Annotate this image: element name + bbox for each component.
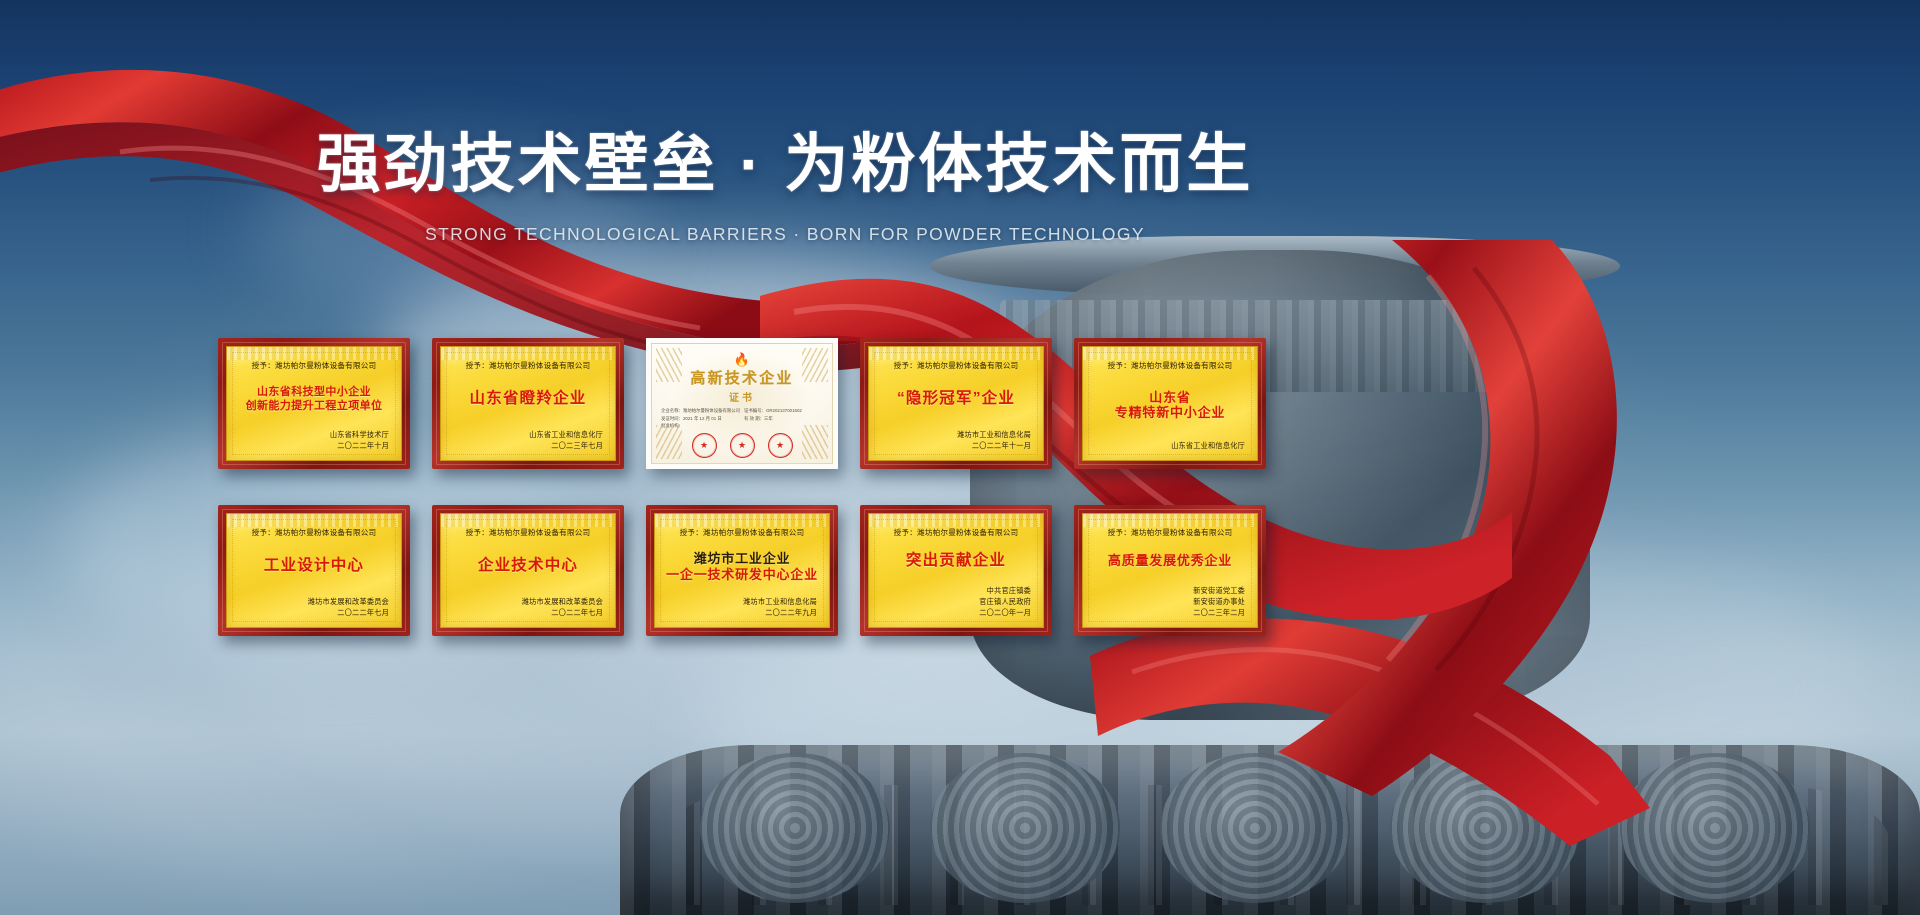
plaque-title-line: 潍坊市工业企业 — [694, 551, 791, 567]
plaque-face: 授予：潍坊帕尔曼粉体设备有限公司 工业设计中心 潍坊市发展和改革委员会 二〇二二… — [226, 513, 402, 628]
award-row-top: 授予：潍坊帕尔曼粉体设备有限公司 山东省科技型中小企业 创新能力提升工程立项单位… — [218, 338, 1266, 469]
plaque-issuer: 潍坊市发展和改革委员会 二〇二二年七月 — [239, 596, 389, 618]
plaque-issuer: 潍坊市工业和信息化局 二〇二二年十一月 — [881, 429, 1031, 451]
plaque-issuer-date: 二〇二〇年一月 — [881, 607, 1031, 618]
plaque-grantee: 授予：潍坊帕尔曼粉体设备有限公司 — [453, 527, 603, 538]
certificate-face: 🔥 高新技术企业 证书 企业名称：潍坊帕尔曼粉体设备有限公司 证书编号：GR20… — [651, 343, 833, 464]
plaque-issuer-line: 潍坊市发展和改革委员会 — [453, 596, 603, 607]
plaque-issuer-line: 潍坊市发展和改革委员会 — [239, 596, 389, 607]
certificate-title: 高新技术企业 — [690, 367, 793, 388]
award-plaque[interactable]: 授予：潍坊帕尔曼粉体设备有限公司 工业设计中心 潍坊市发展和改革委员会 二〇二二… — [218, 505, 410, 636]
plaque-issuer: 潍坊市发展和改革委员会 二〇二二年七月 — [453, 596, 603, 618]
award-plaque[interactable]: 授予：潍坊帕尔曼粉体设备有限公司 突出贡献企业 中共官庄镇委 官庄镇人民政府 二… — [860, 505, 1052, 636]
plaque-grantee: 授予：潍坊帕尔曼粉体设备有限公司 — [881, 527, 1031, 538]
page-title: 强劲技术壁垒 · 为粉体技术而生 — [0, 128, 1570, 202]
plaque-issuer: 新安街道党工委 新安街道办事处 二〇二三年二月 — [1095, 585, 1245, 618]
plaque-issuer-date: 二〇二二年七月 — [239, 607, 389, 618]
plaque-title-line: 山东省科技型中小企业 — [257, 386, 371, 399]
plaque-issuer-line: 中共官庄镇委 — [881, 585, 1031, 596]
bronze-ding-medallion — [1160, 753, 1350, 903]
plaque-face: 授予：潍坊帕尔曼粉体设备有限公司 山东省 专精特新中小企业 山东省工业和信息化厅 — [1082, 346, 1258, 461]
plaque-grantee: 授予：潍坊帕尔曼粉体设备有限公司 — [239, 360, 389, 371]
high-tech-enterprise-certificate[interactable]: 🔥 高新技术企业 证书 企业名称：潍坊帕尔曼粉体设备有限公司 证书编号：GR20… — [646, 338, 838, 469]
plaque-issuer-date: 二〇二二年十一月 — [881, 440, 1031, 451]
plaque-issuer-line: 山东省工业和信息化厅 — [453, 429, 603, 440]
plaque-face: 授予：潍坊帕尔曼粉体设备有限公司 高质量发展优秀企业 新安街道党工委 新安街道办… — [1082, 513, 1258, 628]
plaque-title: 高质量发展优秀企业 — [1095, 538, 1245, 585]
award-plaque[interactable]: 授予：潍坊帕尔曼粉体设备有限公司 潍坊市工业企业 一企一技术研发中心企业 潍坊市… — [646, 505, 838, 636]
plaque-title-line: “隐形冠军”企业 — [897, 390, 1015, 409]
plaque-issuer: 山东省科学技术厅 二〇二二年十月 — [239, 429, 389, 451]
plaque-grantee: 授予：潍坊帕尔曼粉体设备有限公司 — [881, 360, 1031, 371]
plaque-face: 授予：潍坊帕尔曼粉体设备有限公司 突出贡献企业 中共官庄镇委 官庄镇人民政府 二… — [868, 513, 1044, 628]
plaque-face: 授予：潍坊帕尔曼粉体设备有限公司 “隐形冠军”企业 潍坊市工业和信息化局 二〇二… — [868, 346, 1044, 461]
plaque-face: 授予：潍坊帕尔曼粉体设备有限公司 潍坊市工业企业 一企一技术研发中心企业 潍坊市… — [654, 513, 830, 628]
plaque-title-line: 突出贡献企业 — [906, 552, 1006, 571]
plaque-face: 授予：潍坊帕尔曼粉体设备有限公司 企业技术中心 潍坊市发展和改革委员会 二〇二二… — [440, 513, 616, 628]
plaque-issuer-date: 二〇二二年九月 — [667, 607, 817, 618]
plaque-issuer: 潍坊市工业和信息化局 二〇二二年九月 — [667, 596, 817, 618]
plaque-title: “隐形冠军”企业 — [881, 371, 1031, 429]
plaque-grantee: 授予：潍坊帕尔曼粉体设备有限公司 — [239, 527, 389, 538]
award-plaque[interactable]: 授予：潍坊帕尔曼粉体设备有限公司 “隐形冠军”企业 潍坊市工业和信息化局 二〇二… — [860, 338, 1052, 469]
plaque-title: 山东省 专精特新中小企业 — [1095, 371, 1245, 440]
headline-block: 强劲技术壁垒 · 为粉体技术而生 STRONG TECHNOLOGICAL BA… — [0, 128, 1570, 245]
plaque-grantee: 授予：潍坊帕尔曼粉体设备有限公司 — [453, 360, 603, 371]
wheat-ornament-icon — [802, 348, 828, 382]
wheat-ornament-icon — [656, 348, 682, 382]
award-plaque[interactable]: 授予：潍坊帕尔曼粉体设备有限公司 山东省科技型中小企业 创新能力提升工程立项单位… — [218, 338, 410, 469]
award-plaque[interactable]: 授予：潍坊帕尔曼粉体设备有限公司 山东省 专精特新中小企业 山东省工业和信息化厅 — [1074, 338, 1266, 469]
plaque-issuer-line: 新安街道办事处 — [1095, 596, 1245, 607]
plaque-issuer-line: 山东省科学技术厅 — [239, 429, 389, 440]
award-row-bottom: 授予：潍坊帕尔曼粉体设备有限公司 工业设计中心 潍坊市发展和改革委员会 二〇二二… — [218, 505, 1266, 636]
award-plaque[interactable]: 授予：潍坊帕尔曼粉体设备有限公司 企业技术中心 潍坊市发展和改革委员会 二〇二二… — [432, 505, 624, 636]
plaque-issuer-line: 山东省工业和信息化厅 — [1095, 440, 1245, 451]
plaque-issuer-date: 二〇二三年二月 — [1095, 607, 1245, 618]
plaque-issuer: 中共官庄镇委 官庄镇人民政府 二〇二〇年一月 — [881, 585, 1031, 618]
plaque-face: 授予：潍坊帕尔曼粉体设备有限公司 山东省瞪羚企业 山东省工业和信息化厅 二〇二三… — [440, 346, 616, 461]
plaque-title-line: 山东省瞪羚企业 — [470, 390, 587, 409]
plaque-title-line: 专精特新中小企业 — [1115, 405, 1225, 421]
bronze-ding-medallion — [1390, 753, 1580, 903]
plaque-issuer: 山东省工业和信息化厅 — [1095, 440, 1245, 451]
official-seal-icon: ★ — [730, 433, 755, 458]
certificate-seals: ★ ★ ★ — [692, 433, 793, 458]
plaque-title-line: 山东省 — [1149, 390, 1190, 406]
flame-icon: 🔥 — [734, 353, 750, 366]
plaque-title: 潍坊市工业企业 一企一技术研发中心企业 — [667, 538, 817, 596]
plaque-grantee: 授予：潍坊帕尔曼粉体设备有限公司 — [667, 527, 817, 538]
official-seal-icon: ★ — [768, 433, 793, 458]
plaque-face: 授予：潍坊帕尔曼粉体设备有限公司 山东省科技型中小企业 创新能力提升工程立项单位… — [226, 346, 402, 461]
plaque-title: 山东省科技型中小企业 创新能力提升工程立项单位 — [239, 371, 389, 429]
plaque-title: 工业设计中心 — [239, 538, 389, 596]
certificate-fields: 企业名称：潍坊帕尔曼粉体设备有限公司 证书编号：GR202137001602 发… — [661, 408, 823, 430]
page-subtitle: STRONG TECHNOLOGICAL BARRIERS · BORN FOR… — [0, 224, 1570, 245]
official-seal-icon: ★ — [692, 433, 717, 458]
plaque-grantee: 授予：潍坊帕尔曼粉体设备有限公司 — [1095, 360, 1245, 371]
wheat-ornament-icon — [656, 425, 682, 459]
certificate-subtitle: 证书 — [729, 389, 755, 404]
plaque-issuer-date: 二〇二二年七月 — [453, 607, 603, 618]
certificate-field: 有 效 期：三年 — [744, 416, 823, 423]
award-plaque[interactable]: 授予：潍坊帕尔曼粉体设备有限公司 高质量发展优秀企业 新安街道党工委 新安街道办… — [1074, 505, 1266, 636]
plaque-issuer-line: 潍坊市工业和信息化局 — [881, 429, 1031, 440]
plaque-title-line: 创新能力提升工程立项单位 — [246, 400, 383, 413]
plaque-issuer: 山东省工业和信息化厅 二〇二三年七月 — [453, 429, 603, 451]
plaque-issuer-line: 官庄镇人民政府 — [881, 596, 1031, 607]
certificate-field: 证书编号：GR202137001602 — [744, 408, 823, 415]
plaque-grantee: 授予：潍坊帕尔曼粉体设备有限公司 — [1095, 527, 1245, 538]
plaque-title: 突出贡献企业 — [881, 538, 1031, 585]
plaque-title: 企业技术中心 — [453, 538, 603, 596]
plaque-issuer-line: 潍坊市工业和信息化局 — [667, 596, 817, 607]
plaque-issuer-date: 二〇二三年七月 — [453, 440, 603, 451]
wheat-ornament-icon — [802, 425, 828, 459]
certificate-field: 企业名称：潍坊帕尔曼粉体设备有限公司 — [661, 408, 740, 415]
plaque-title-line: 高质量发展优秀企业 — [1108, 553, 1232, 569]
bronze-ding-medallion — [700, 753, 890, 903]
plaque-issuer-date: 二〇二二年十月 — [239, 440, 389, 451]
plaque-title: 山东省瞪羚企业 — [453, 371, 603, 429]
plaque-title-line: 一企一技术研发中心企业 — [666, 567, 818, 583]
bronze-ding-medallion — [930, 753, 1120, 903]
plaque-title-line: 工业设计中心 — [264, 557, 364, 576]
plaque-issuer-line: 新安街道党工委 — [1095, 585, 1245, 596]
banner-stage: 强劲技术壁垒 · 为粉体技术而生 STRONG TECHNOLOGICAL BA… — [0, 0, 1920, 915]
award-plaque[interactable]: 授予：潍坊帕尔曼粉体设备有限公司 山东省瞪羚企业 山东省工业和信息化厅 二〇二三… — [432, 338, 624, 469]
plaque-title-line: 企业技术中心 — [478, 557, 578, 576]
certificate-field: 发证时间：2021 年 12 月 01 日 — [661, 416, 740, 423]
bronze-ding-medallion — [1620, 753, 1810, 903]
